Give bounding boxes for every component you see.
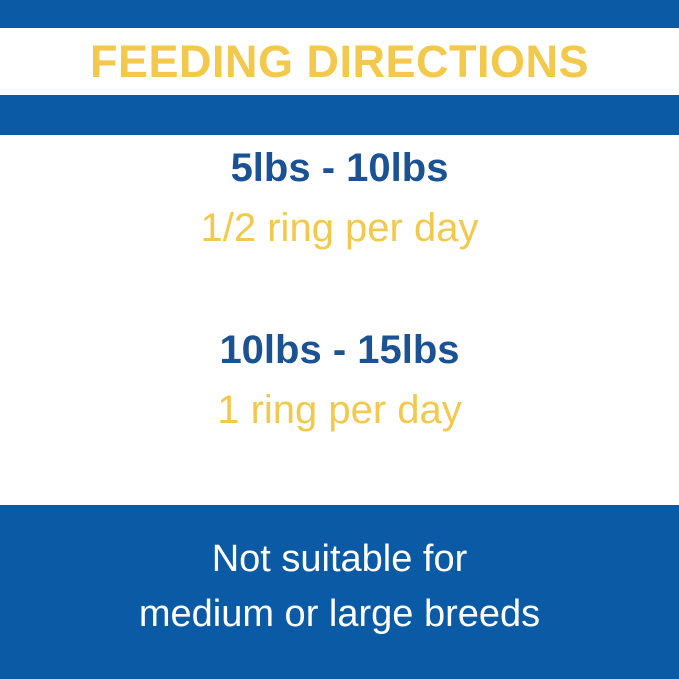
page-title: FEEDING DIRECTIONS <box>90 39 589 84</box>
header-strip: FEEDING DIRECTIONS <box>0 28 679 95</box>
feeding-amount-label: 1 ring per day <box>0 389 679 431</box>
notice-line-2: medium or large breeds <box>139 587 540 642</box>
weight-range-label: 10lbs - 15lbs <box>0 329 679 371</box>
top-blue-band <box>0 0 679 28</box>
feeding-instructions-section: 5lbs - 10lbs 1/2 ring per day 10lbs - 15… <box>0 135 679 505</box>
weight-range-label: 5lbs - 10lbs <box>0 147 679 189</box>
notice-line-1: Not suitable for <box>212 532 468 587</box>
feeding-amount-label: 1/2 ring per day <box>0 207 679 249</box>
feeding-group: 10lbs - 15lbs 1 ring per day <box>0 329 679 431</box>
middle-blue-band <box>0 95 679 135</box>
feeding-directions-panel: FEEDING DIRECTIONS 5lbs - 10lbs 1/2 ring… <box>0 0 679 679</box>
breed-warning-notice: Not suitable for medium or large breeds <box>0 505 679 679</box>
feeding-group: 5lbs - 10lbs 1/2 ring per day <box>0 147 679 249</box>
